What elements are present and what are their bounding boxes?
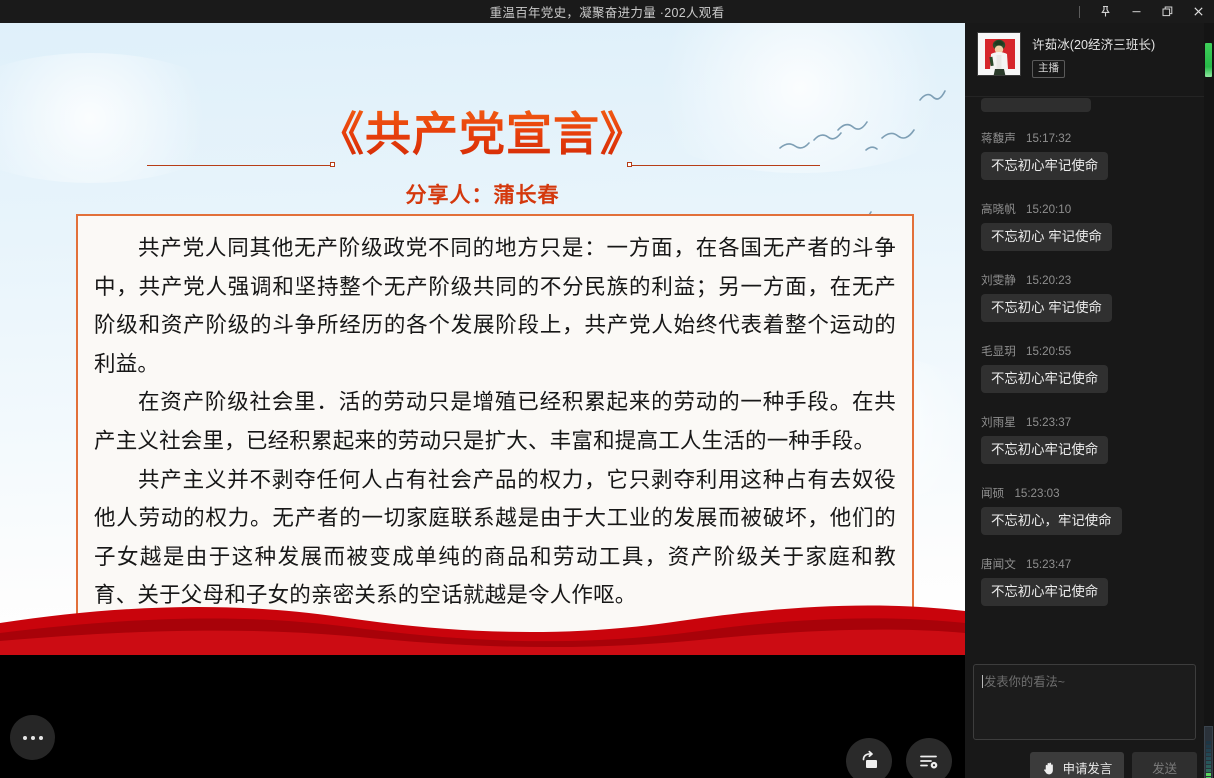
red-wave-decoration xyxy=(0,593,965,655)
message-author: 刘雯静 xyxy=(981,274,1016,287)
playlist-settings-icon xyxy=(917,749,941,773)
slide-content-box: 共产党人同其他无产阶级政党不同的地方只是：一方面，在各国无产者的斗争中，共产党人… xyxy=(76,214,914,638)
message-time: 15:17:32 xyxy=(1026,132,1071,145)
partially-scrolled-bubble xyxy=(981,98,1091,112)
message-author: 高晓帆 xyxy=(981,203,1016,216)
avatar-illustration-icon xyxy=(978,33,1021,76)
slide-paragraph: 在资产阶级社会里．活的劳动只是增殖已经积累起来的劳动的一种手段。在共产主义社会里… xyxy=(94,384,896,461)
message-bubble: 不忘初心 牢记使命 xyxy=(981,223,1112,251)
chat-panel: 许茹冰(20经济三班长) 主播 蒋馥声 15:17:32 不忘初心牢记使命 高晓… xyxy=(965,23,1205,778)
minimize-button[interactable] xyxy=(1121,0,1152,23)
presentation-slide: 《共产党宣言》 分享人：蒲长春 共产党人同其他无产阶级政党不同的地方只是：一方面… xyxy=(0,23,965,655)
message-author: 蒋馥声 xyxy=(981,132,1016,145)
slide-title: 《共产党宣言》 xyxy=(318,109,647,160)
message-bubble: 不忘初心牢记使命 xyxy=(981,436,1108,464)
window-title-bar: 重温百年党史，凝聚奋进力量 ·202人观看 xyxy=(0,0,1214,23)
close-button[interactable] xyxy=(1183,0,1214,23)
window-controls xyxy=(1075,0,1214,23)
message-header: 闻硕 15:23:03 xyxy=(981,485,1122,501)
list-item: 高晓帆 15:20:10 不忘初心 牢记使命 xyxy=(981,201,1112,251)
message-bubble: 不忘初心，牢记使命 xyxy=(981,507,1122,535)
title-rule-dot-right xyxy=(627,162,632,167)
title-rule-left xyxy=(147,165,332,166)
window-edge-strip[interactable] xyxy=(1204,23,1214,778)
request-to-speak-button[interactable]: 申请发言 xyxy=(1030,752,1125,778)
chat-input-placeholder: 发表你的看法~ xyxy=(984,675,1065,689)
slide-title-wrap: 《共产党宣言》 xyxy=(0,109,965,160)
more-options-button[interactable] xyxy=(10,715,55,760)
message-time: 15:20:23 xyxy=(1026,274,1071,287)
composer: 发表你的看法~ 申请发言 发送 xyxy=(965,659,1205,778)
avatar[interactable] xyxy=(977,32,1021,76)
rotate-screen-icon xyxy=(857,749,881,773)
ellipsis-icon xyxy=(23,736,43,740)
pin-icon[interactable] xyxy=(1090,0,1121,23)
message-author: 唐闻文 xyxy=(981,558,1016,571)
chat-message-list[interactable]: 蒋馥声 15:17:32 不忘初心牢记使命 高晓帆 15:20:10 不忘初心 … xyxy=(965,98,1205,653)
title-rule-right xyxy=(632,165,820,166)
shared-screen-stage[interactable]: 《共产党宣言》 分享人：蒲长春 共产党人同其他无产阶级政党不同的地方只是：一方面… xyxy=(0,23,965,778)
list-item: 刘雨星 15:23:37 不忘初心牢记使命 xyxy=(981,414,1108,464)
message-time: 15:20:55 xyxy=(1026,345,1071,358)
message-bubble: 不忘初心 牢记使命 xyxy=(981,294,1112,322)
slide-paragraph: 共产党人同其他无产阶级政党不同的地方只是：一方面，在各国无产者的斗争中，共产党人… xyxy=(94,230,896,384)
message-bubble: 不忘初心牢记使命 xyxy=(981,365,1108,393)
text-caret xyxy=(982,675,983,688)
host-name: 许茹冰(20经济三班长) xyxy=(1032,34,1155,53)
message-author: 闻硕 xyxy=(981,487,1004,500)
title-rule-dot-left xyxy=(330,162,335,167)
send-button[interactable]: 发送 xyxy=(1132,752,1197,778)
list-item: 毛显玥 15:20:55 不忘初心牢记使命 xyxy=(981,343,1108,393)
video-level-indicator xyxy=(1205,43,1212,77)
list-item: 蒋馥声 15:17:32 不忘初心牢记使命 xyxy=(981,130,1108,180)
slide-subtitle: 分享人：蒲长春 xyxy=(0,179,965,209)
divider xyxy=(1079,6,1080,18)
message-bubble: 不忘初心牢记使命 xyxy=(981,578,1108,606)
message-time: 15:23:03 xyxy=(1014,487,1059,500)
composer-actions: 申请发言 发送 xyxy=(965,752,1205,778)
message-header: 刘雨星 15:23:37 xyxy=(981,414,1108,430)
list-item: 闻硕 15:23:03 不忘初心，牢记使命 xyxy=(981,485,1122,535)
message-bubble: 不忘初心牢记使命 xyxy=(981,152,1108,180)
list-item: 刘雯静 15:20:23 不忘初心 牢记使命 xyxy=(981,272,1112,322)
message-header: 高晓帆 15:20:10 xyxy=(981,201,1112,217)
message-header: 毛显玥 15:20:55 xyxy=(981,343,1108,359)
message-time: 15:23:47 xyxy=(1026,558,1071,571)
rotate-screen-button[interactable] xyxy=(846,738,892,778)
list-item: 唐闻文 15:23:47 不忘初心牢记使命 xyxy=(981,556,1108,606)
host-badge: 主播 xyxy=(1032,60,1065,78)
message-time: 15:23:37 xyxy=(1026,416,1071,429)
audio-level-meter xyxy=(1204,726,1213,778)
window-title: 重温百年党史，凝聚奋进力量 ·202人观看 xyxy=(490,2,725,21)
meeting-window: 重温百年党史，凝聚奋进力量 ·202人观看 xyxy=(0,0,1214,778)
message-header: 唐闻文 15:23:47 xyxy=(981,556,1108,572)
message-header: 蒋馥声 15:17:32 xyxy=(981,130,1108,146)
message-author: 毛显玥 xyxy=(981,345,1016,358)
message-header: 刘雯静 15:20:23 xyxy=(981,272,1112,288)
playlist-settings-button[interactable] xyxy=(906,738,952,778)
host-header: 许茹冰(20经济三班长) 主播 xyxy=(965,23,1205,97)
message-author: 刘雨星 xyxy=(981,416,1016,429)
host-meta: 许茹冰(20经济三班长) 主播 xyxy=(1032,32,1155,78)
message-time: 15:20:10 xyxy=(1026,203,1071,216)
request-to-speak-label: 申请发言 xyxy=(1063,759,1113,777)
restore-button[interactable] xyxy=(1152,0,1183,23)
hand-icon xyxy=(1042,761,1057,776)
chat-input[interactable]: 发表你的看法~ xyxy=(973,664,1196,740)
